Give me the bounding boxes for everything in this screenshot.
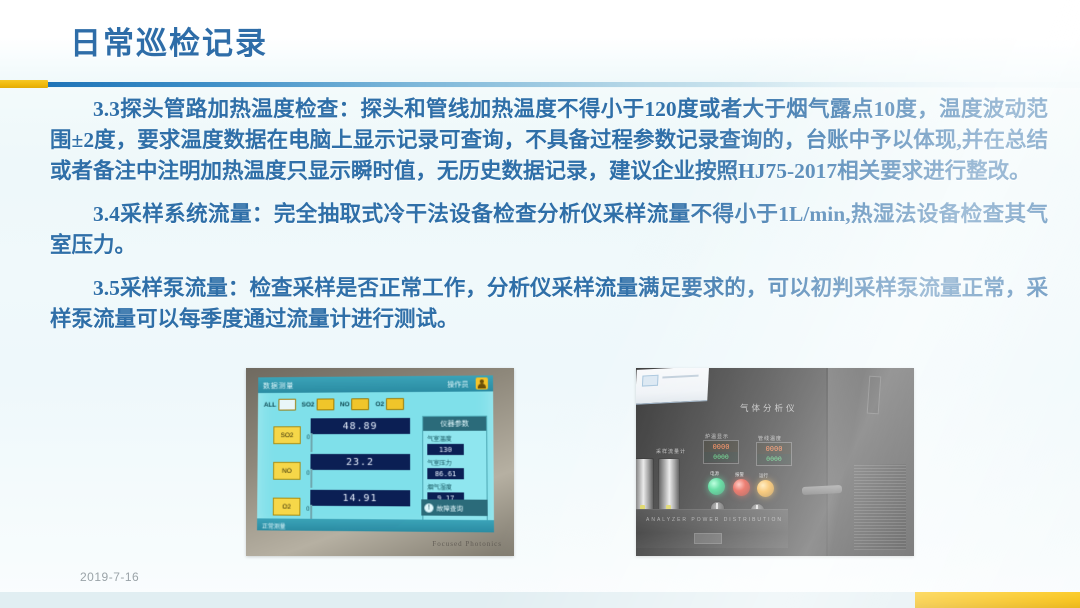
digital-meter-2-pv: 0000 [757,443,791,454]
hmi-status-text: 正常测量 [262,521,286,530]
hmi-brand-mark: Focused Photonics [432,540,502,548]
hmi-parameter-chamber-temp-label: 气室温度 [427,434,482,443]
hmi-tab-all-label: ALL [264,401,276,408]
slide-date: 2019-7-16 [80,570,139,584]
door-vent-grill [854,464,906,550]
digital-meter-1-pv: 0000 [704,441,738,452]
rack-panel-button[interactable] [694,533,722,544]
hmi-alarm-button[interactable]: ! 故障查询 [421,499,487,516]
gauge-icon [278,399,296,411]
footer-accent-bar [915,592,1080,608]
hmi-parameter-chamber-temp: 气室温度 130 [427,434,482,455]
hmi-min-no: 0 [306,471,309,477]
power-lamp-caption: 电源 [710,471,719,477]
hmi-parameter-title: 仪器参数 [423,417,486,431]
hmi-tag-so2: SO2 [273,426,301,444]
bell-icon: ! [424,503,433,512]
cabinet-label: 气体分析仪 [740,402,798,414]
hmi-alarm-button-label: 故障查询 [437,502,464,512]
run-lamp [757,480,774,497]
hmi-min-o2: 0 [306,507,309,513]
hmi-tab-so2-label: SO2 [302,401,315,408]
hmi-gauge-no [310,469,312,488]
hmi-parameter-chamber-temp-value: 130 [427,444,464,455]
photo-analyzer-hmi: 数据测量 操作员 ALL SO2 NO [246,368,514,556]
hmi-tag-no: NO [273,462,301,480]
hmi-gauge-so2 [311,433,313,452]
hmi-tab-bar[interactable]: ALL SO2 NO O2 [264,395,487,412]
hmi-bar-no: 23.2 mg/m³ 0 200 [310,454,410,488]
hmi-min-so2: 0 [307,435,310,441]
title-accent-bar [0,80,48,88]
gauge-icon [352,398,370,410]
hmi-title: 数据测量 [263,381,294,391]
slide-header: 日常巡检记录 [0,0,1080,88]
hmi-tag-o2: O2 [273,498,301,516]
hmi-tab-no-label: NO [340,401,350,408]
paragraph-3-5: 3.5采样泵流量：检查采样是否正常工作，分析仪采样流量满足要求的，可以初判采样泵… [0,273,1080,335]
hmi-tab-no[interactable]: NO [340,398,370,410]
hmi-parameter-chamber-pressure-label: 气室压力 [427,458,482,467]
digital-meter-1: 0000 0000 [703,440,739,464]
gauge-icon [386,398,404,410]
hmi-value-so2: 48.89 [311,418,410,434]
hmi-status-bar: 正常测量 [257,518,494,532]
digital-meter-2-caption: 管线温度 [758,435,782,442]
slide-body: 3.3探头管路加热温度检查：探头和管线加热温度不得小于120度或者大于烟气露点1… [0,94,1080,343]
digital-meter-1-caption: 炉温显示 [705,433,729,440]
hmi-reading-no: NO 23.2 mg/m³ 0 200 [273,456,410,486]
cabinet-posted-document [636,368,709,405]
slide-root: 日常巡检记录 3.3探头管路加热温度检查：探头和管线加热温度不得小于120度或者… [0,0,1080,608]
photo-row: 数据测量 操作员 ALL SO2 NO [0,368,1080,560]
flowmeter-right-caption: 采样流量计 [656,448,686,455]
run-lamp-caption: 运行 [759,473,768,479]
door-slot [867,376,882,415]
hmi-parameter-chamber-pressure-value: 86.61 [427,468,464,479]
hmi-parameter-chamber-pressure: 气室压力 86.61 [427,458,482,479]
hmi-title-bar: 数据测量 操作员 [258,375,493,393]
user-icon [476,377,488,389]
hmi-user-label: 操作员 [447,380,468,390]
page-title: 日常巡检记录 [70,18,268,63]
power-lamp [708,478,725,495]
cabinet-open-door [826,368,914,556]
hmi-reading-so2: SO2 48.89 mg/m³ 0 1150 [273,420,410,450]
title-divider-line [48,82,1080,87]
paragraph-3-3: 3.3探头管路加热温度检查：探头和管线加热温度不得小于120度或者大于烟气露点1… [0,94,1080,187]
digital-meter-2: 0000 0000 [756,442,792,466]
alarm-lamp-caption: 报警 [735,472,744,478]
gauge-icon [316,398,334,410]
cabinet-bottom-rack: ANALYZER POWER DISTRIBUTION [636,509,788,548]
hmi-tab-o2[interactable]: O2 [375,398,404,410]
hmi-tab-so2[interactable]: SO2 [302,398,335,410]
alarm-lamp [733,479,750,496]
digital-meter-2-sv: 0000 [757,454,791,464]
digital-meter-1-sv: 0000 [704,452,738,462]
hmi-bar-so2: 48.89 mg/m³ 0 1150 [311,418,411,452]
hmi-value-o2: 14.91 [310,490,410,507]
cabinet-rack-text: ANALYZER POWER DISTRIBUTION [646,517,783,523]
hmi-parameter-flue-humidity-label: 烟气湿度 [427,482,482,491]
hmi-value-no: 23.2 [310,454,410,470]
paragraph-3-4: 3.4采样系统流量：完全抽取式冷干法设备检查分析仪采样流量不得小于1L/min,… [0,199,1080,261]
hmi-tab-all[interactable]: ALL [264,399,296,411]
hmi-tab-o2-label: O2 [375,401,384,408]
hmi-screen: 数据测量 操作员 ALL SO2 NO [257,375,494,532]
photo-analyzer-cabinet: 气体分析仪 采样流量计 0000 0000 炉温显示 0000 0000 管线温… [636,368,914,556]
